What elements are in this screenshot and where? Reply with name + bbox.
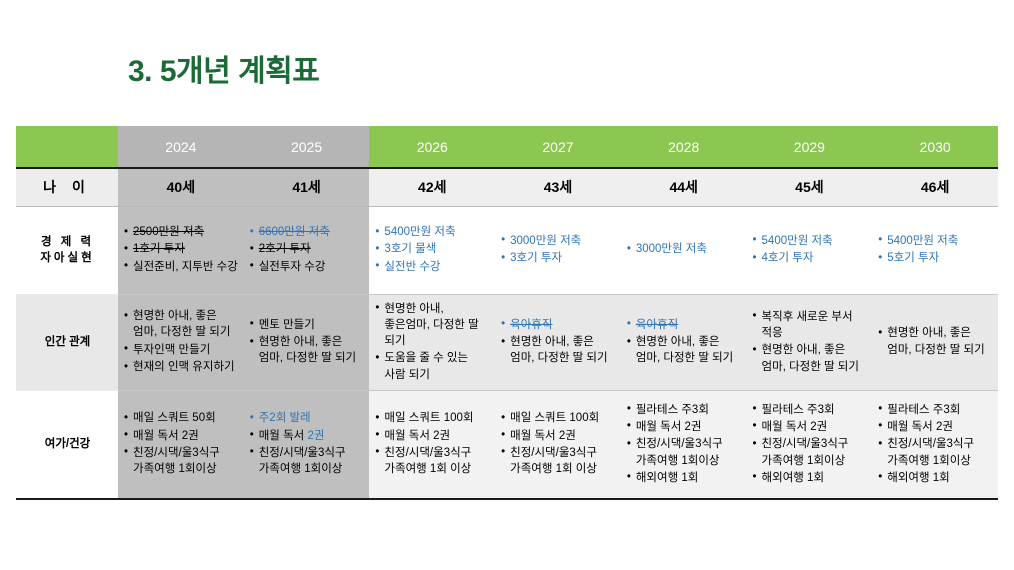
list-item: 현명한 아내, 좋은 엄마, 다정한 딸 되기: [124, 308, 239, 341]
list-item: 복직후 새로운 부서 적응: [753, 309, 868, 342]
list-item-text: 3호기 투자: [510, 252, 562, 264]
list-item: 현명한 아내, 좋은 엄마, 다정한 딸 되기: [878, 325, 993, 358]
plan-table: 2024202520262027202820292030나 이40세41세42세…: [16, 126, 998, 500]
cell-인간관계-2029: 복직후 새로운 부서 적응현명한 아내, 좋은 엄마, 다정한 딸 되기: [747, 294, 873, 391]
goal-list: 복직후 새로운 부서 적응현명한 아내, 좋은 엄마, 다정한 딸 되기: [753, 309, 868, 375]
table-row: 경 제 력자아실현2500만원 저축1호기 투자실전준비, 지투반 수강6600…: [16, 206, 998, 294]
list-item: 현재의 인맥 유지하기: [124, 359, 239, 375]
list-item-text: 실전준비, 지투반 수강: [133, 261, 238, 273]
list-item-text: 친정/시댁/울3식구 가족여행 1회이상: [259, 447, 346, 475]
cell-경제력-2030: 5400만원 저축5호기 투자: [872, 206, 998, 294]
list-item: 3000만원 저축: [501, 233, 616, 249]
list-item: 2호기 투자: [250, 241, 365, 257]
list-item-text: 6600만원 저축: [259, 226, 330, 238]
goal-list: 육아휴직현명한 아내, 좋은 엄마, 다정한 딸 되기: [501, 317, 616, 367]
list-item-text: 1호기 투자: [133, 243, 185, 255]
list-item-text: 매월 독서 2권: [762, 421, 828, 433]
list-item: 친정/시댁/울3식구 가족여행 1회이상: [753, 436, 868, 469]
cell-여가/건강-2024: 매일 스쿼트 50회매월 독서 2권친정/시댁/울3식구 가족여행 1회이상: [118, 391, 244, 499]
goal-list: 3000만원 저축3호기 투자: [501, 233, 616, 267]
age-row-label: 나 이: [16, 168, 118, 206]
age-cell-2028: 44세: [621, 168, 747, 206]
list-item-text: 2500만원 저축: [133, 226, 204, 238]
list-item-text: 친정/시댁/울3식구 가족여행 1회이상: [636, 438, 723, 466]
goal-list: 6600만원 저축2호기 투자실전투자 수강: [250, 224, 365, 275]
list-item-text: 매월 독서 2권: [259, 430, 325, 442]
list-item-text: 현명한 아내, 좋은 엄마, 다정한 딸 되기: [636, 336, 733, 364]
list-item: 2500만원 저축: [124, 224, 239, 240]
age-cell-2026: 42세: [369, 168, 495, 206]
cell-경제력-2028: 3000만원 저축: [621, 206, 747, 294]
list-item: 해외여행 1회: [753, 470, 868, 486]
list-item-text: 복직후 새로운 부서 적응: [762, 311, 853, 339]
list-item-text: 필라테스 주3회: [887, 404, 960, 416]
cell-인간관계-2024: 현명한 아내, 좋은 엄마, 다정한 딸 되기투자인맥 만들기현재의 인맥 유지…: [118, 294, 244, 391]
list-item-text: 매월 독서 2권: [133, 430, 199, 442]
list-item-text: 실전투자 수강: [259, 261, 326, 273]
table-row: 인간 관계현명한 아내, 좋은 엄마, 다정한 딸 되기투자인맥 만들기현재의 …: [16, 294, 998, 391]
list-item-text: 현명한 아내, 좋은 엄마, 다정한 딸 되기: [762, 344, 859, 372]
header-year-2024: 2024: [118, 126, 244, 168]
list-item: 친정/시댁/울3식구 가족여행 1회이상: [250, 445, 365, 478]
cell-여가/건강-2026: 매일 스쿼트 100회매월 독서 2권친정/시댁/울3식구 가족여행 1회 이상: [369, 391, 495, 499]
list-item-text: 육아휴직: [510, 319, 552, 331]
list-item: 5400만원 저축: [878, 233, 993, 249]
goal-list: 필라테스 주3회매월 독서 2권친정/시댁/울3식구 가족여행 1회이상해외여행…: [753, 402, 868, 487]
cell-인간관계-2028: 육아휴직현명한 아내, 좋은 엄마, 다정한 딸 되기: [621, 294, 747, 391]
goal-list: 필라테스 주3회매월 독서 2권친정/시댁/울3식구 가족여행 1회이상해외여행…: [878, 402, 993, 487]
cell-경제력-2025: 6600만원 저축2호기 투자실전투자 수강: [244, 206, 370, 294]
list-item: 필라테스 주3회: [878, 402, 993, 418]
goal-list: 5400만원 저축4호기 투자: [753, 233, 868, 267]
cell-여가/건강-2028: 필라테스 주3회매월 독서 2권친정/시댁/울3식구 가족여행 1회이상해외여행…: [621, 391, 747, 499]
header-year-2025: 2025: [244, 126, 370, 168]
slide-canvas: 3. 5개년 계획표 2024202520262027202820292030나…: [0, 0, 1014, 570]
list-item-text: 현재의 인맥 유지하기: [133, 361, 235, 373]
list-item: 매월 독서 2권: [501, 428, 616, 444]
row-label-line2: 자아실현: [22, 250, 113, 266]
age-row: 나 이40세41세42세43세44세45세46세: [16, 168, 998, 206]
header-year-2029: 2029: [747, 126, 873, 168]
goal-list: 매일 스쿼트 50회매월 독서 2권친정/시댁/울3식구 가족여행 1회이상: [124, 410, 239, 477]
list-item: 현명한 아내, 좋은 엄마, 다정한 딸 되기: [753, 342, 868, 375]
list-item-text: 멘토 만들기: [259, 319, 315, 331]
list-item: 3호기 투자: [501, 250, 616, 266]
list-item: 필라테스 주3회: [627, 402, 742, 418]
list-item-text: 해외여행 1회: [762, 472, 825, 484]
list-item-text: 도움을 줄 수 있는 사람 되기: [384, 352, 468, 380]
goal-list: 멘토 만들기현명한 아내, 좋은 엄마, 다정한 딸 되기: [250, 317, 365, 367]
list-item: 1호기 투자: [124, 241, 239, 257]
table-row: 여가/건강매일 스쿼트 50회매월 독서 2권친정/시댁/울3식구 가족여행 1…: [16, 391, 998, 499]
cell-경제력-2024: 2500만원 저축1호기 투자실전준비, 지투반 수강: [118, 206, 244, 294]
list-item: 현명한 아내, 좋은 엄마, 다정한 딸 되기: [627, 334, 742, 367]
list-item-text: 주2회 발레: [259, 412, 311, 424]
list-item: 5호기 투자: [878, 250, 993, 266]
list-item: 매월 독서 2권: [753, 419, 868, 435]
cell-인간관계-2026: 현명한 아내, 좋은엄마, 다정한 딸 되기도움을 줄 수 있는 사람 되기: [369, 294, 495, 391]
five-year-plan-table: 2024202520262027202820292030나 이40세41세42세…: [16, 126, 998, 500]
goal-list: 3000만원 저축: [627, 241, 742, 257]
list-item: 실전반 수강: [375, 259, 490, 275]
goal-list: 2500만원 저축1호기 투자실전준비, 지투반 수강: [124, 224, 239, 275]
list-item: 도움을 줄 수 있는 사람 되기: [375, 350, 490, 383]
row-label-2: 여가/건강: [16, 391, 118, 499]
list-item: 투자인맥 만들기: [124, 342, 239, 358]
list-item-text: 실전반 수강: [384, 261, 440, 273]
list-item: 멘토 만들기: [250, 317, 365, 333]
age-cell-2025: 41세: [244, 168, 370, 206]
header-year-2028: 2028: [621, 126, 747, 168]
list-item-text: 4호기 투자: [762, 252, 814, 264]
list-item-text: 친정/시댁/울3식구 가족여행 1회이상: [762, 438, 849, 466]
list-item-text: 3호기 물색: [384, 243, 436, 255]
cell-여가/건강-2029: 필라테스 주3회매월 독서 2권친정/시댁/울3식구 가족여행 1회이상해외여행…: [747, 391, 873, 499]
list-item: 친정/시댁/울3식구 가족여행 1회이상: [878, 436, 993, 469]
list-item-text: 필라테스 주3회: [762, 404, 835, 416]
page-title: 3. 5개년 계획표: [128, 46, 319, 90]
cell-인간관계-2025: 멘토 만들기현명한 아내, 좋은 엄마, 다정한 딸 되기: [244, 294, 370, 391]
list-item-text: 현명한 아내, 좋은엄마, 다정한 딸 되기: [384, 303, 478, 348]
list-item: 실전투자 수강: [250, 259, 365, 275]
goal-list: 주2회 발레매월 독서 2권친정/시댁/울3식구 가족여행 1회이상: [250, 410, 365, 477]
list-item: 친정/시댁/울3식구 가족여행 1회이상: [627, 436, 742, 469]
goal-list: 매일 스쿼트 100회매월 독서 2권친정/시댁/울3식구 가족여행 1회 이상: [375, 410, 490, 477]
list-item-text: 매일 스쿼트 50회: [133, 412, 216, 424]
cell-경제력-2029: 5400만원 저축4호기 투자: [747, 206, 873, 294]
age-cell-2029: 45세: [747, 168, 873, 206]
list-item: 주2회 발레: [250, 410, 365, 426]
list-item-text: 3000만원 저축: [636, 243, 707, 255]
list-item: 친정/시댁/울3식구 가족여행 1회 이상: [501, 445, 616, 478]
list-item: 매월 독서 2권: [627, 419, 742, 435]
list-item: 매일 스쿼트 50회: [124, 410, 239, 426]
list-item: 6600만원 저축: [250, 224, 365, 240]
list-item-text: 매월 독서 2권: [510, 430, 576, 442]
list-item-text: 해외여행 1회: [636, 472, 699, 484]
table-header-row: 2024202520262027202820292030: [16, 126, 998, 168]
goal-list: 현명한 아내, 좋은 엄마, 다정한 딸 되기투자인맥 만들기현재의 인맥 유지…: [124, 308, 239, 375]
cell-여가/건강-2030: 필라테스 주3회매월 독서 2권친정/시댁/울3식구 가족여행 1회이상해외여행…: [872, 391, 998, 499]
list-item-text: 필라테스 주3회: [636, 404, 709, 416]
header-year-2027: 2027: [495, 126, 621, 168]
list-item-text: 현명한 아내, 좋은 엄마, 다정한 딸 되기: [510, 336, 607, 364]
list-item-text: 해외여행 1회: [887, 472, 950, 484]
list-item-text: 현명한 아내, 좋은 엄마, 다정한 딸 되기: [133, 310, 230, 338]
age-cell-2030: 46세: [872, 168, 998, 206]
goal-list: 현명한 아내, 좋은엄마, 다정한 딸 되기도움을 줄 수 있는 사람 되기: [375, 301, 490, 384]
list-item: 육아휴직: [501, 317, 616, 333]
list-item-text: 육아휴직: [636, 319, 678, 331]
list-item: 현명한 아내, 좋은 엄마, 다정한 딸 되기: [501, 334, 616, 367]
list-item-text: 친정/시댁/울3식구 가족여행 1회이상: [887, 438, 974, 466]
list-item-text: 5400만원 저축: [384, 226, 455, 238]
list-item-text: 매월 독서 2권: [636, 421, 702, 433]
header-year-2026: 2026: [369, 126, 495, 168]
cell-인간관계-2027: 육아휴직현명한 아내, 좋은 엄마, 다정한 딸 되기: [495, 294, 621, 391]
list-item-text: 투자인맥 만들기: [133, 344, 210, 356]
age-cell-2027: 43세: [495, 168, 621, 206]
list-item: 3000만원 저축: [627, 241, 742, 257]
cell-여가/건강-2027: 매일 스쿼트 100회매월 독서 2권친정/시댁/울3식구 가족여행 1회 이상: [495, 391, 621, 499]
age-cell-2024: 40세: [118, 168, 244, 206]
list-item-text: 현명한 아내, 좋은 엄마, 다정한 딸 되기: [887, 327, 984, 355]
list-item: 해외여행 1회: [878, 470, 993, 486]
list-item: 매월 독서 2권: [878, 419, 993, 435]
list-item: 친정/시댁/울3식구 가족여행 1회이상: [124, 445, 239, 478]
list-item: 5400만원 저축: [753, 233, 868, 249]
header-corner-cell: [16, 126, 118, 168]
list-item: 육아휴직: [627, 317, 742, 333]
header-year-2030: 2030: [872, 126, 998, 168]
goal-list: 5400만원 저축3호기 물색실전반 수강: [375, 224, 490, 275]
row-label-0: 경 제 력자아실현: [16, 206, 118, 294]
goal-list: 매일 스쿼트 100회매월 독서 2권친정/시댁/울3식구 가족여행 1회 이상: [501, 410, 616, 477]
list-item: 현명한 아내, 좋은엄마, 다정한 딸 되기: [375, 301, 490, 350]
list-item-text: 5호기 투자: [887, 252, 939, 264]
list-item-text: 매월 독서 2권: [887, 421, 953, 433]
list-item-text: 매일 스쿼트 100회: [384, 412, 473, 424]
list-item: 매월 독서 2권: [250, 428, 365, 444]
list-item: 매일 스쿼트 100회: [501, 410, 616, 426]
goal-list: 현명한 아내, 좋은 엄마, 다정한 딸 되기: [878, 325, 993, 358]
cell-여가/건강-2025: 주2회 발레매월 독서 2권친정/시댁/울3식구 가족여행 1회이상: [244, 391, 370, 499]
list-item-text: 매월 독서 2권: [384, 430, 450, 442]
list-item: 매월 독서 2권: [124, 428, 239, 444]
list-item-text: 2호기 투자: [259, 243, 311, 255]
goal-list: 5400만원 저축5호기 투자: [878, 233, 993, 267]
list-item-text: 친정/시댁/울3식구 가족여행 1회이상: [133, 447, 220, 475]
list-item: 3호기 물색: [375, 241, 490, 257]
row-label-line1: 경 제 력: [22, 234, 113, 250]
list-item: 현명한 아내, 좋은 엄마, 다정한 딸 되기: [250, 334, 365, 367]
list-item: 4호기 투자: [753, 250, 868, 266]
list-item: 매일 스쿼트 100회: [375, 410, 490, 426]
list-item: 5400만원 저축: [375, 224, 490, 240]
list-item: 실전준비, 지투반 수강: [124, 259, 239, 275]
goal-list: 육아휴직현명한 아내, 좋은 엄마, 다정한 딸 되기: [627, 317, 742, 367]
cell-경제력-2027: 3000만원 저축3호기 투자: [495, 206, 621, 294]
list-item-text: 친정/시댁/울3식구 가족여행 1회 이상: [510, 447, 597, 475]
list-item-text: 5400만원 저축: [887, 235, 958, 247]
list-item-text: 현명한 아내, 좋은 엄마, 다정한 딸 되기: [259, 336, 356, 364]
list-item-text: 5400만원 저축: [762, 235, 833, 247]
list-item-text: 친정/시댁/울3식구 가족여행 1회 이상: [384, 447, 471, 475]
highlighted-fragment: 2권: [307, 430, 324, 442]
list-item: 필라테스 주3회: [753, 402, 868, 418]
list-item: 친정/시댁/울3식구 가족여행 1회 이상: [375, 445, 490, 478]
cell-경제력-2026: 5400만원 저축3호기 물색실전반 수강: [369, 206, 495, 294]
list-item-text: 매일 스쿼트 100회: [510, 412, 599, 424]
row-label-1: 인간 관계: [16, 294, 118, 391]
list-item: 매월 독서 2권: [375, 428, 490, 444]
cell-인간관계-2030: 현명한 아내, 좋은 엄마, 다정한 딸 되기: [872, 294, 998, 391]
goal-list: 필라테스 주3회매월 독서 2권친정/시댁/울3식구 가족여행 1회이상해외여행…: [627, 402, 742, 487]
list-item-text: 3000만원 저축: [510, 235, 581, 247]
list-item: 해외여행 1회: [627, 470, 742, 486]
